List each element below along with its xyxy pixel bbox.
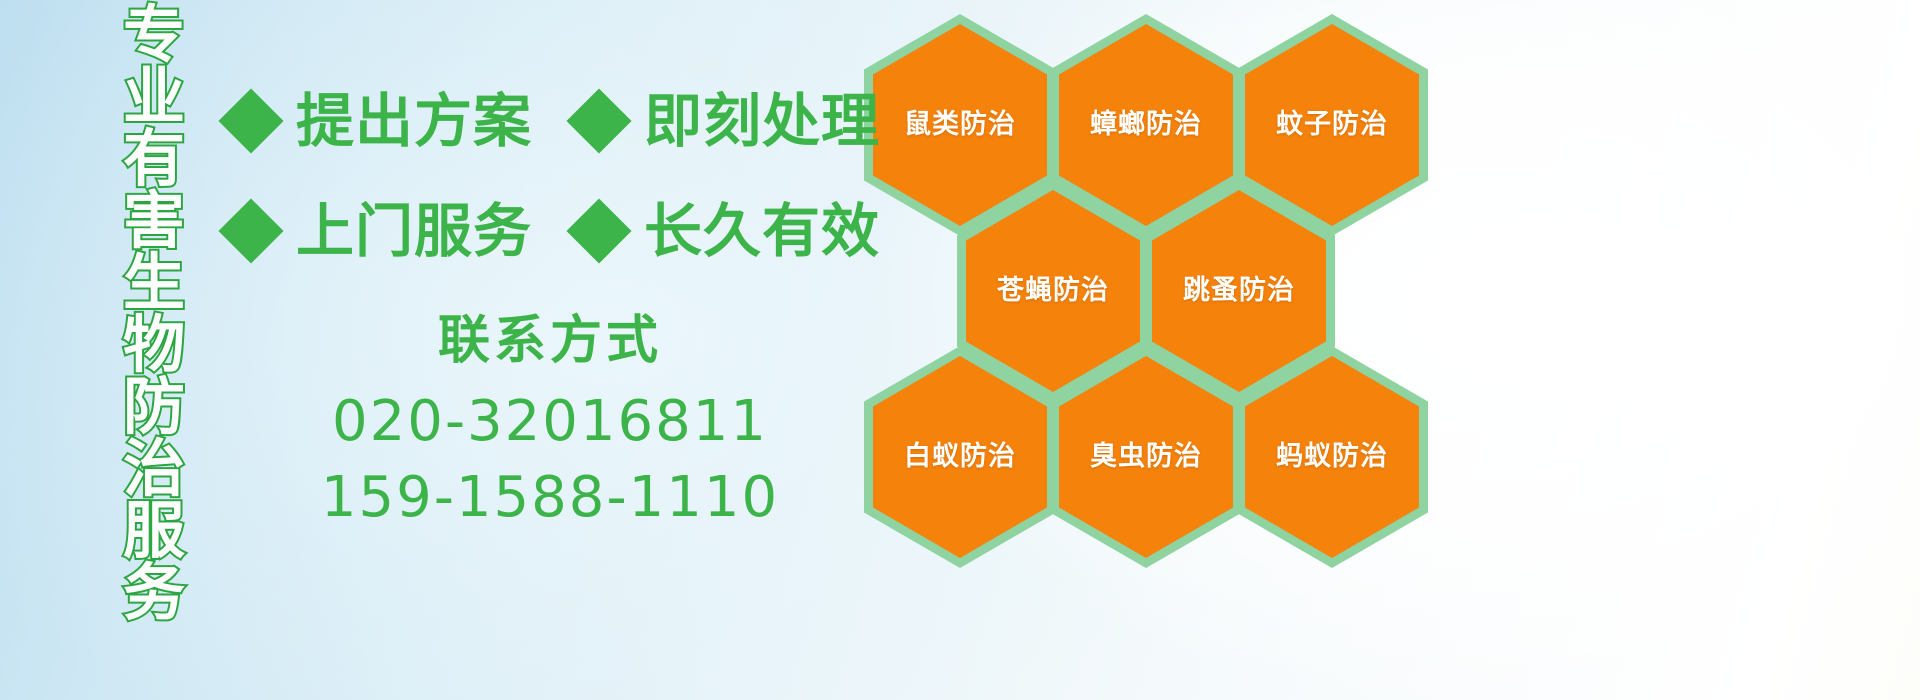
service-label: 蟑螂防治 (1050, 110, 1242, 140)
feature-label: 提出方案 (296, 92, 532, 150)
diamond-icon (218, 88, 283, 153)
service-hex-bedbug[interactable]: 臭虫防治 (1050, 346, 1242, 568)
service-label: 蚊子防治 (1236, 110, 1428, 140)
phone-number-mobile[interactable]: 159-1588-1110 (240, 460, 860, 536)
service-hex-ant[interactable]: 蚂蚁防治 (1236, 346, 1428, 568)
diamond-icon (566, 88, 631, 153)
vertical-title-char: 防 (123, 376, 185, 438)
phone-number-landline[interactable]: 020-32016811 (240, 384, 860, 460)
feature-label: 长久有效 (644, 202, 880, 260)
vertical-title-char: 生 (123, 252, 185, 314)
diamond-icon (566, 198, 631, 263)
feature-label: 上门服务 (296, 202, 532, 260)
vertical-title: 专 业 有 害 生 物 防 治 服 务 (108, 4, 200, 564)
diamond-icon (218, 198, 283, 263)
vertical-title-char: 害 (123, 190, 185, 252)
service-label: 白蚁防治 (864, 442, 1056, 472)
contact-block: 联系方式 020-32016811 159-1588-1110 (240, 312, 860, 537)
service-label: 臭虫防治 (1050, 442, 1242, 472)
pest-control-banner: 专 业 有 害 生 物 防 治 服 务 提出方案 即刻处理 上门服务 长久有效 … (0, 0, 1920, 700)
vertical-title-char: 专 (123, 4, 185, 66)
service-label: 苍蝇防治 (957, 276, 1149, 306)
vertical-title-char: 治 (123, 438, 185, 500)
vertical-title-char: 业 (123, 66, 185, 128)
feature-row-1: 提出方案 即刻处理 (228, 92, 894, 150)
vertical-title-char: 有 (123, 128, 185, 190)
vertical-title-char: 服 (123, 500, 185, 562)
vertical-title-char: 务 (123, 562, 185, 624)
service-hex-termite[interactable]: 白蚁防治 (864, 346, 1056, 568)
service-label: 蚂蚁防治 (1236, 442, 1428, 472)
feature-row-2: 上门服务 长久有效 (228, 202, 894, 260)
feature-label: 即刻处理 (644, 92, 880, 150)
service-label: 跳蚤防治 (1143, 276, 1335, 306)
contact-title: 联系方式 (240, 312, 860, 370)
vertical-title-char: 物 (123, 314, 185, 376)
